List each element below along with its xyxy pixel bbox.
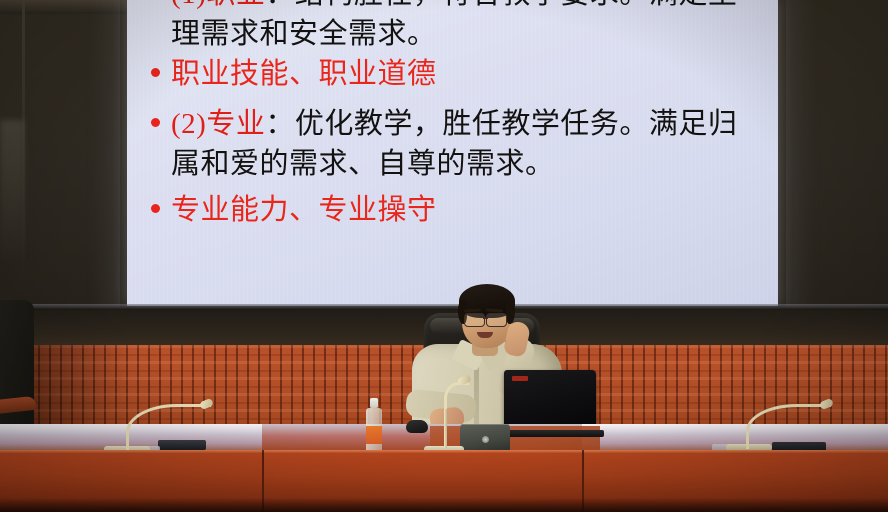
microphone-center-gooseneck	[444, 382, 469, 409]
slide-bullet-4: 专业能力、专业操守	[151, 190, 767, 230]
slide-bullet-1-label: (1)职业	[171, 0, 265, 10]
speaker-hair-right	[506, 300, 515, 324]
desk-front-edge-highlight	[0, 450, 888, 454]
glasses-bridge	[483, 317, 488, 319]
laptop-base	[498, 430, 604, 437]
slide-bullet-2: 职业技能、职业道德	[151, 54, 767, 94]
slide-bullet-4-text: 专业能力、专业操守	[171, 190, 437, 230]
wall-light-reflection	[0, 120, 24, 260]
slide-bullet-1-continuation: 理需求和安全需求。	[171, 18, 437, 50]
conference-room-photo: (1)职业：结构胜任，符合教学要求。满足生理需求和安全需求。 职业技能、职业道德…	[0, 0, 888, 512]
slide-bullet-3-label: (2)专业	[171, 108, 265, 140]
computer-mouse	[406, 420, 428, 433]
glasses-lens-left	[464, 313, 485, 327]
glasses-lens-right	[486, 313, 507, 327]
water-bottle	[366, 398, 382, 454]
desk-device-indicator-icon	[482, 436, 489, 443]
bullet-dot-icon	[151, 204, 160, 213]
slide-bullet-3-body: ：优化教学，胜任教学任务。满足归	[265, 108, 737, 140]
slide-content: (1)职业：结构胜任，符合教学要求。满足生理需求和安全需求。 职业技能、职业道德…	[127, 0, 778, 306]
water-bottle-cap	[370, 398, 378, 408]
slide-bullet-3-continuation: 属和爱的需求、自尊的需求。	[171, 148, 555, 180]
desk-floor-shadow	[0, 498, 888, 512]
slide-bullet-3: (2)专业：优化教学，胜任教学任务。满足归属和爱的需求、自尊的需求。	[151, 104, 767, 184]
bullet-dot-icon	[151, 68, 160, 77]
slide-bullet-2-text: 职业技能、职业道德	[171, 54, 437, 94]
slide-bullet-3-text: (2)专业：优化教学，胜任教学任务。满足归属和爱的需求、自尊的需求。	[171, 104, 737, 184]
wall-top-strip	[0, 0, 130, 14]
laptop-brand-logo-icon	[512, 376, 528, 381]
water-bottle-label	[366, 426, 382, 444]
slide-bullet-1-text: (1)职业：结构胜任，符合教学要求。满足生理需求和安全需求。	[171, 0, 737, 54]
microphone-center-stem	[444, 404, 447, 448]
slide-bullet-1-body: ：结构胜任，符合教学要求。满足生	[265, 0, 737, 10]
bullet-dot-icon	[151, 118, 160, 127]
slide-bullet-1: (1)职业：结构胜任，符合教学要求。满足生理需求和安全需求。	[151, 0, 767, 54]
